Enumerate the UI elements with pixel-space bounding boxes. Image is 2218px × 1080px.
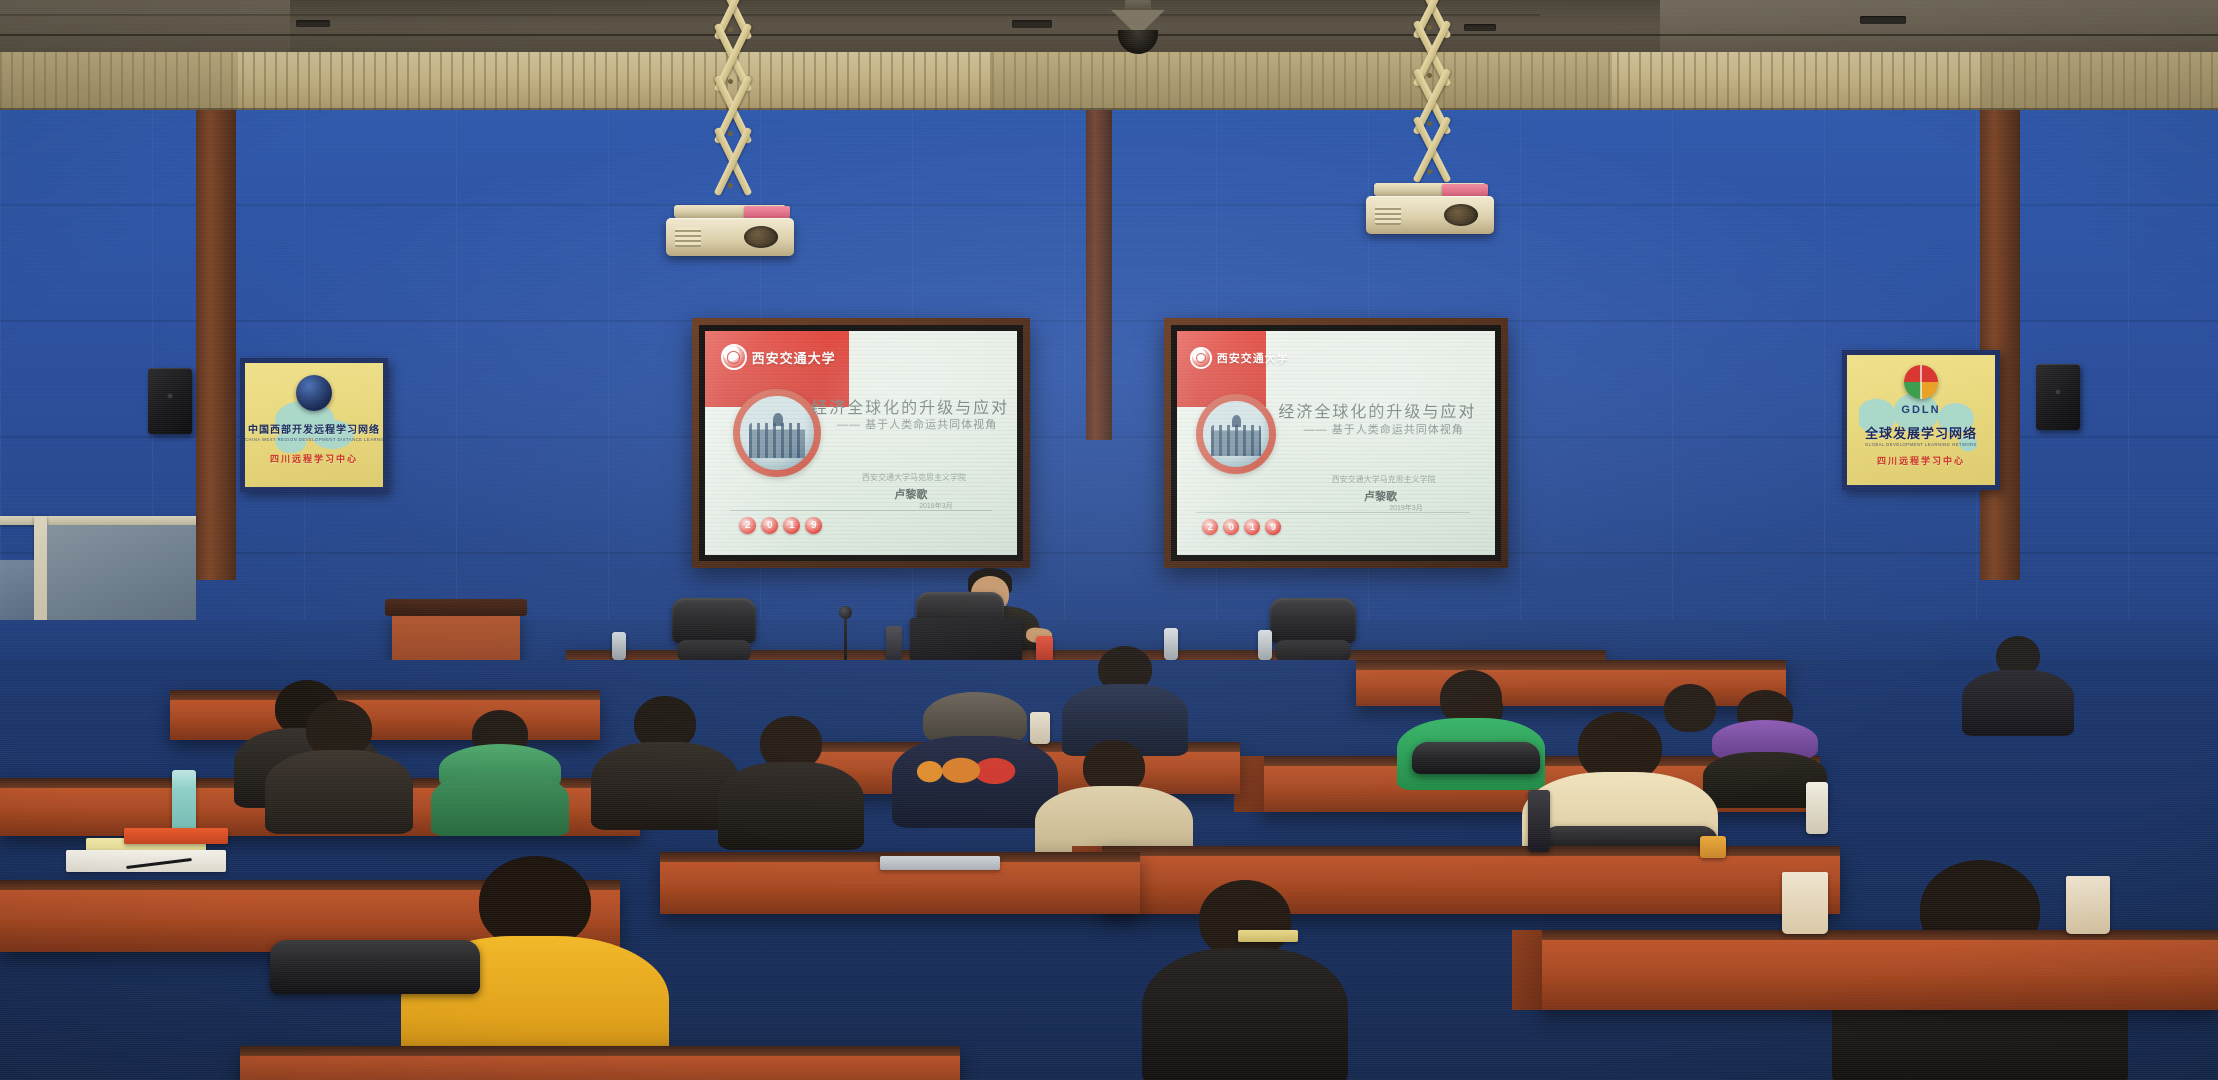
wall-pilaster-left	[196, 110, 236, 580]
slide-right-title: 经济全球化的升级与应对	[1272, 398, 1482, 422]
student-back-right	[1958, 636, 2078, 732]
slide-right-logo-text: 西安交通大学	[1217, 350, 1289, 366]
coffee-cup-far-right	[2066, 876, 2110, 934]
slide-left-speaker: 卢黎歌	[836, 486, 986, 502]
desk-row4-left	[240, 1046, 960, 1080]
slide-left-year: 2 0 1 9	[739, 517, 822, 534]
slide-left-affiliation: 西安交通大学马克思主义学院	[830, 472, 998, 483]
projector-left-icon	[666, 218, 794, 256]
poster-right-acronym: GDLN	[1847, 404, 1995, 416]
water-bottle-left	[172, 770, 196, 836]
phone-on-desk	[880, 856, 1000, 870]
slide-right-year: 2 0 1 9	[1202, 519, 1281, 535]
slide-right-speaker: 卢黎歌	[1304, 488, 1457, 504]
projector-mount-left	[640, 0, 820, 270]
microphone-icon	[839, 606, 852, 619]
student-left-mid	[716, 716, 866, 840]
chair-left-row3	[270, 940, 480, 994]
poster-left-title-en: CHINA WEST REGION DEVELOPMENT DISTANCE L…	[245, 437, 383, 442]
microphone-stand	[844, 614, 847, 660]
stage-chair-right	[1270, 598, 1356, 662]
projector-mount-right	[1340, 0, 1520, 250]
notebook-white	[66, 850, 226, 872]
slide-right: 西安交通大学 经济全球化的升级与应对 —— 基于人类命运共同体视角 西安交通大学…	[1177, 331, 1495, 555]
desk-row4-right	[1540, 930, 2218, 1010]
wall-pilaster-right	[1980, 110, 2020, 580]
laptop	[910, 618, 1022, 660]
wall-speaker-left	[148, 368, 192, 434]
poster-right-subtitle: 四川远程学习中心	[1847, 454, 1995, 467]
dome-camera-icon	[1108, 0, 1168, 58]
projection-screen-right: 西安交通大学 经济全球化的升级与应对 —— 基于人类命运共同体视角 西安交通大学…	[1164, 318, 1508, 568]
wall-pilaster-center	[1086, 110, 1112, 440]
slide-right-affiliation: 西安交通大学马克思主义学院	[1298, 474, 1470, 485]
student-center-darkblue	[1060, 646, 1190, 750]
student-beige-shawl	[1034, 740, 1194, 860]
bottle-right-back	[1806, 782, 1828, 834]
projector-right-icon	[1366, 196, 1494, 234]
poster-china-west-network: 中国西部开发远程学习网络 CHINA WEST REGION DEVELOPME…	[240, 358, 388, 492]
poster-left-title-cn: 中国西部开发远程学习网络	[245, 421, 383, 436]
water-bottle-stage-3	[612, 632, 626, 660]
lecture-hall-photo: 中国西部开发远程学习网络 CHINA WEST REGION DEVELOPME…	[0, 0, 2218, 1080]
slide-left-logo-text: 西安交通大学	[752, 348, 836, 367]
poster-right-title-cn: 全球发展学习网络	[1847, 423, 1995, 442]
student-green-hoodie	[430, 710, 570, 826]
coffee-cup-right	[1782, 872, 1828, 934]
notebook-orange	[124, 828, 228, 844]
projection-screen-left: 西安交通大学 经济全球化的升级与应对 —— 基于人类命运共同体视角 西安交通大学…	[692, 318, 1030, 568]
wall-speaker-right	[2036, 364, 2080, 430]
stage-chair-left	[672, 598, 756, 662]
student-center-bottom	[1140, 880, 1350, 1080]
thermos-right	[1528, 790, 1550, 852]
small-cup-orange	[1700, 836, 1726, 858]
poster-left-subtitle: 四川远程学习中心	[245, 452, 383, 465]
sticky-note	[1238, 930, 1298, 942]
cup-center-desk	[1030, 712, 1050, 744]
slide-right-subtitle: —— 基于人类命运共同体视角	[1285, 421, 1482, 437]
window-frame-top	[0, 516, 196, 525]
slide-left-title: 经济全球化的升级与应对	[811, 394, 1004, 418]
water-bottle-stage-2	[1258, 630, 1272, 660]
thermos	[886, 626, 902, 662]
poster-gdln: GDLN 全球发展学习网络 GLOBAL DEVELOPMENT LEARNIN…	[1842, 350, 2000, 490]
student-left-glasses	[264, 700, 414, 820]
slide-left: 西安交通大学 经济全球化的升级与应对 —— 基于人类命运共同体视角 西安交通大学…	[705, 331, 1017, 555]
poster-right-title-en: GLOBAL DEVELOPMENT LEARNING NETWORK	[1847, 442, 1995, 447]
slide-left-subtitle: —— 基于人类命运共同体视角	[824, 416, 1011, 432]
